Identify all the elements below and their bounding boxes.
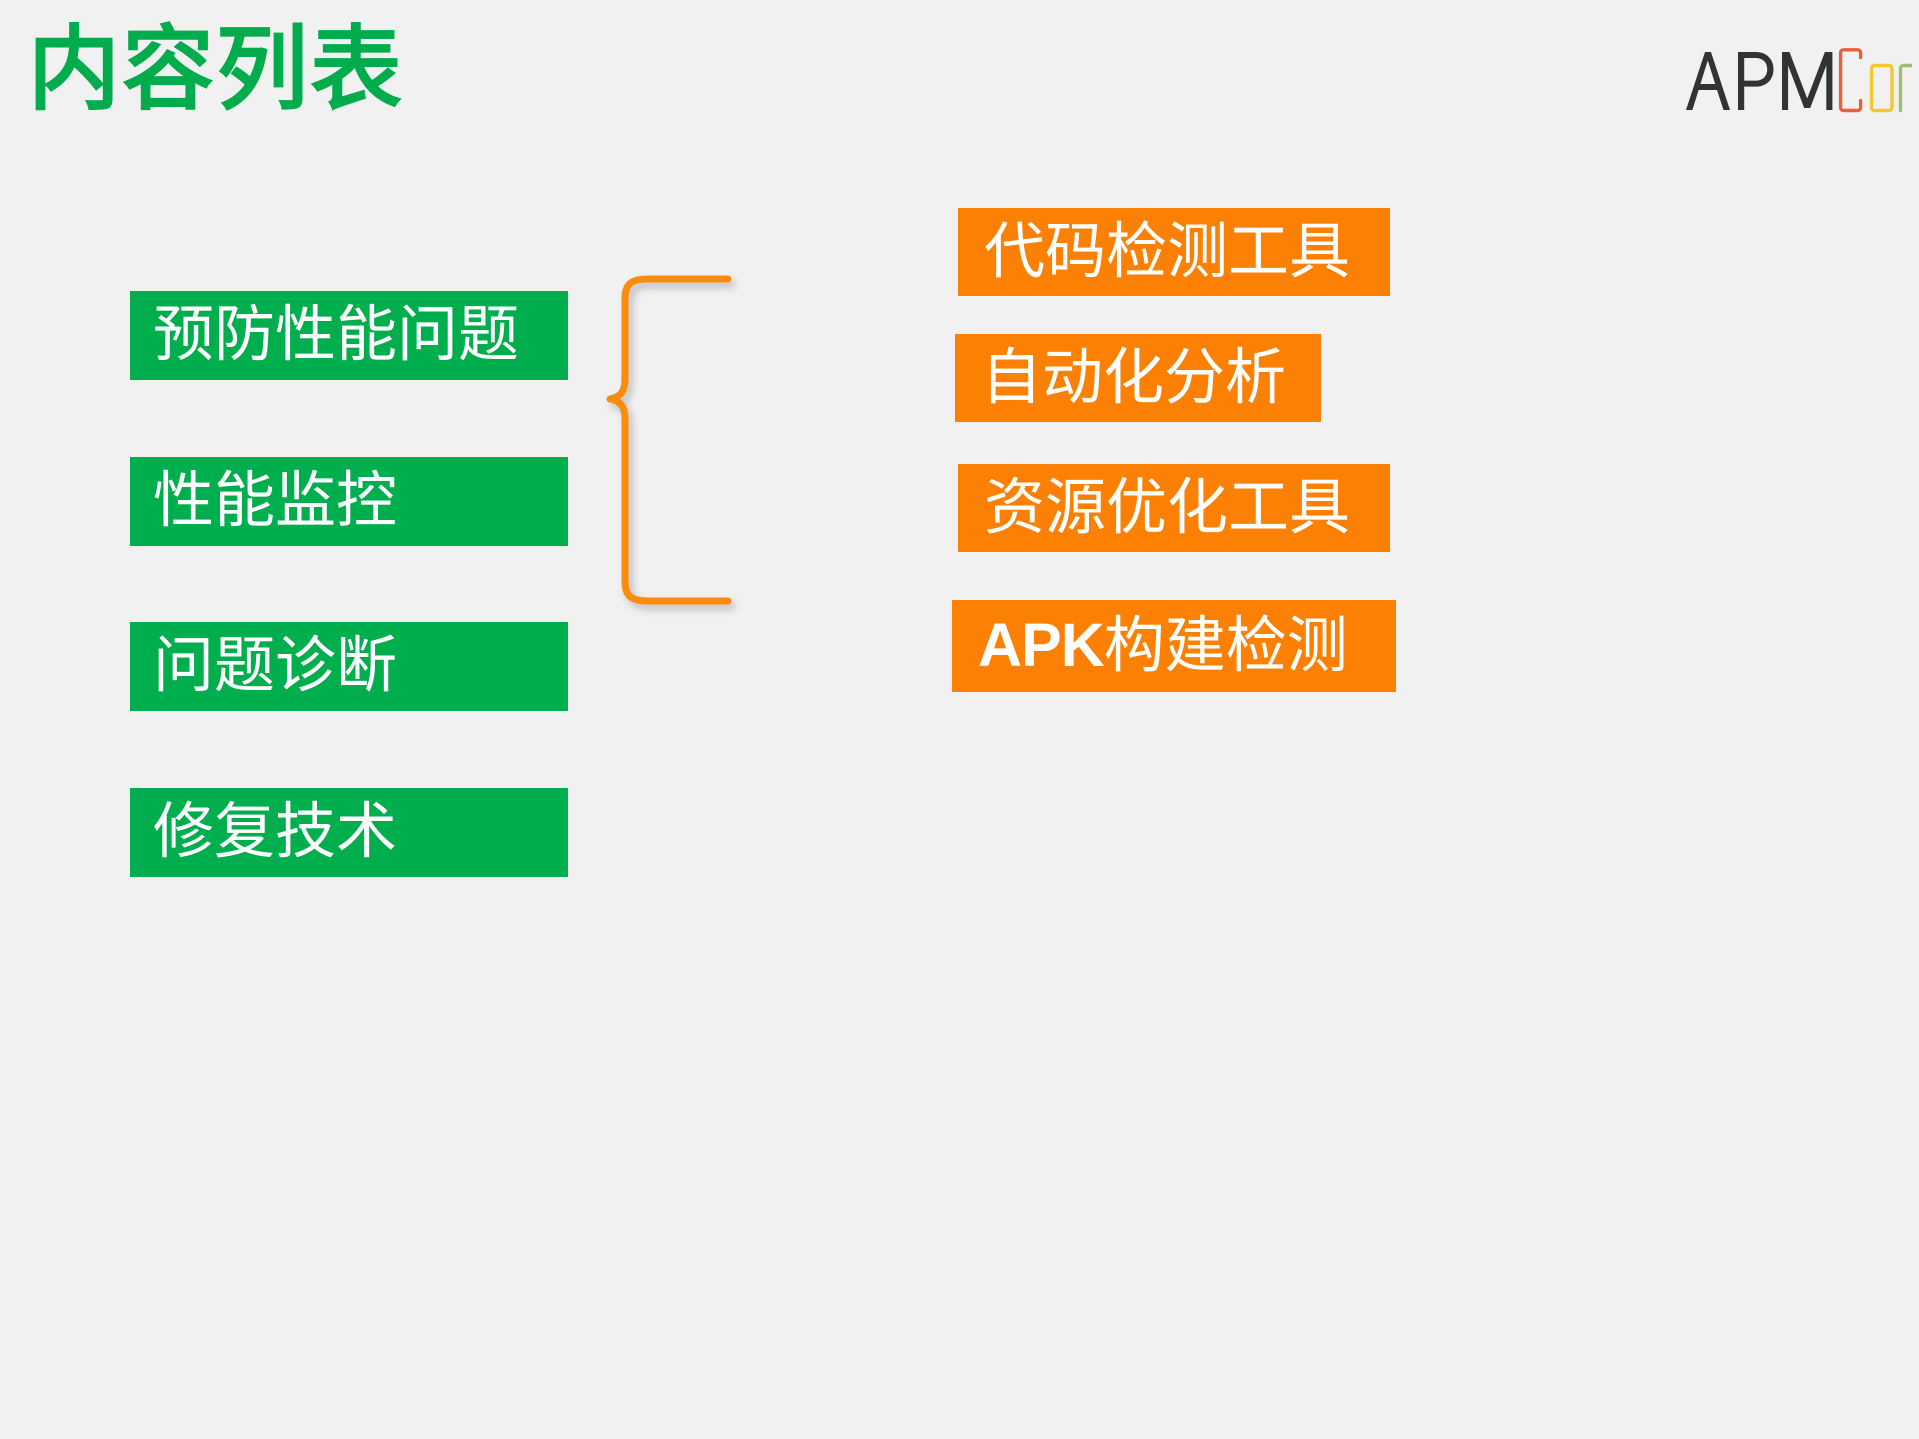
right-item-3[interactable]: 资源优化工具 xyxy=(958,464,1390,552)
right-item-2[interactable]: 自动化分析 xyxy=(955,334,1321,422)
left-item-3-label: 问题诊断 xyxy=(153,636,397,697)
left-item-1[interactable]: 预防性能问题 xyxy=(130,291,568,380)
left-item-1-label: 预防性能问题 xyxy=(153,305,519,366)
right-item-4-label: APK构建检测 xyxy=(978,615,1348,677)
right-item-4-latin: APK xyxy=(978,611,1104,679)
right-item-2-label: 自动化分析 xyxy=(981,348,1286,409)
logo-apm-text xyxy=(1686,52,1832,110)
left-item-2-label: 性能监控 xyxy=(153,471,397,532)
slide-canvas: 内容列表 xyxy=(0,0,1919,1439)
right-item-1-label: 代码检测工具 xyxy=(984,222,1350,283)
curly-brace-connector xyxy=(600,230,940,650)
left-item-3[interactable]: 问题诊断 xyxy=(130,622,568,711)
left-item-4[interactable]: 修复技术 xyxy=(130,788,568,877)
right-item-4[interactable]: APK构建检测 xyxy=(952,600,1396,692)
logo-letter-n xyxy=(1901,66,1913,111)
left-item-4-label: 修复技术 xyxy=(153,802,397,863)
apmcon-logo xyxy=(1684,44,1912,114)
left-item-2[interactable]: 性能监控 xyxy=(130,457,568,546)
right-item-4-cjk: 构建检测 xyxy=(1104,613,1348,680)
brace-path xyxy=(610,279,728,601)
logo-letter-o xyxy=(1872,66,1893,111)
right-item-3-label: 资源优化工具 xyxy=(984,478,1350,539)
logo-letter-c xyxy=(1841,50,1861,111)
page-title: 内容列表 xyxy=(28,22,404,119)
right-item-1[interactable]: 代码检测工具 xyxy=(958,208,1390,296)
